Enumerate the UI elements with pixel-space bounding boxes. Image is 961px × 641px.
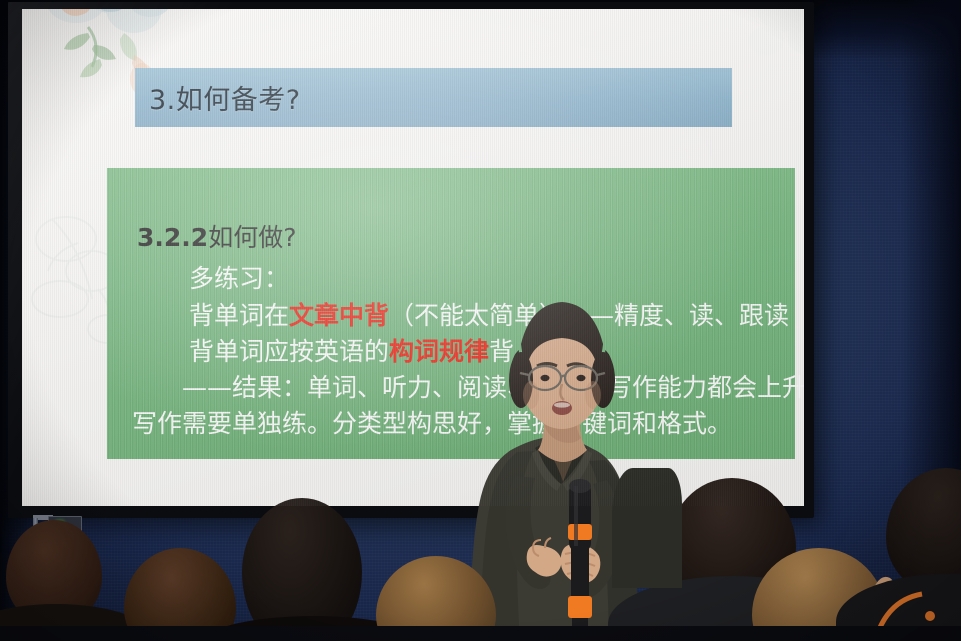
microphone-icon (568, 479, 592, 630)
projection-screen-frame: 3.如何备考? 3.2.2如何做? 多练习： 背单词在文章中背（不能太简单）—— (8, 2, 814, 518)
slide-title-band: 3.如何备考? (135, 68, 732, 127)
content-heading: 3.2.2如何做? (137, 225, 296, 250)
line1-seg1: 多练习： (189, 264, 289, 293)
slide-content-panel: 3.2.2如何做? 多练习： 背单词在文章中背（不能太简单）——精度、读、跟读 … (107, 168, 795, 459)
content-line-1: 多练习： (189, 266, 289, 291)
content-heading-number: 3.2.2 (137, 223, 208, 252)
slide-body-text: 3.2.2如何做? 多练习： 背单词在文章中背（不能太简单）——精度、读、跟读 … (107, 168, 795, 459)
content-heading-text: 如何做? (208, 223, 296, 252)
presentation-slide: 3.如何备考? 3.2.2如何做? 多练习： 背单词在文章中背（不能太简单）—— (22, 9, 804, 506)
audience-member-8 (612, 468, 682, 558)
audience-shoulders (612, 468, 682, 588)
line2-highlight: 文章中背 (289, 301, 389, 330)
slide-title: 3.如何备考? (135, 78, 301, 117)
foreground-table-edge (0, 626, 961, 641)
line3-seg1: 背单词应按英语的 (189, 337, 389, 366)
lecture-hall-scene: 3.如何备考? 3.2.2如何做? 多练习： 背单词在文章中背（不能太简单）—— (0, 0, 961, 641)
projection-screen-surface: 3.如何备考? 3.2.2如何做? 多练习： 背单词在文章中背（不能太简单）—— (22, 9, 804, 506)
line2-seg1: 背单词在 (189, 301, 289, 330)
